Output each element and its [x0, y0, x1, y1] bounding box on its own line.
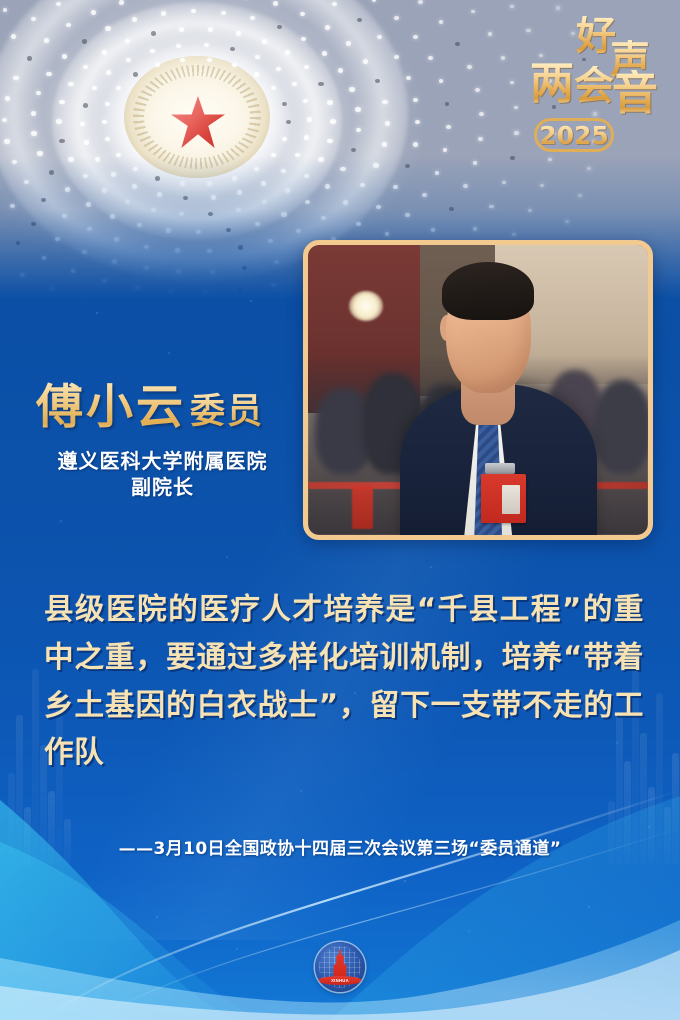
ceiling-light [236, 31, 241, 36]
ceiling-light [221, 11, 226, 16]
ceiling-light [91, 10, 96, 15]
ceiling-light [435, 171, 440, 175]
ceiling-light [382, 100, 387, 105]
ceiling-light [71, 269, 76, 273]
ceiling-light [44, 38, 49, 43]
ceiling-light [106, 70, 111, 75]
ceiling-light [11, 34, 16, 38]
ceiling-light [382, 142, 387, 147]
ceiling-light [304, 174, 309, 179]
ceiling-light [55, 237, 60, 241]
ceiling-light [87, 227, 92, 232]
ceiling-light [5, 96, 10, 101]
quote-text: 县级医院的医疗人才培养是“千县工程”的重中之重，要通过多样化培训机制，培养“带着… [44, 586, 644, 777]
ceiling-light [86, 202, 91, 207]
ceiling-light [578, 194, 582, 197]
ceiling-light [176, 44, 181, 49]
ceiling-light [238, 245, 243, 250]
ceiling-light [445, 102, 450, 106]
ceiling-light [4, 139, 9, 144]
sparkle-dot [168, 352, 170, 354]
ceiling-light [176, 269, 181, 273]
ceiling-light [478, 137, 483, 141]
ceiling-light [307, 117, 312, 122]
ceiling-light [116, 153, 121, 157]
ceiling-light [377, 35, 382, 39]
ceiling-light [510, 5, 514, 9]
poster-root: 好 声 两 会 音 2025 [0, 0, 680, 1020]
ceiling-light [41, 198, 46, 203]
ceiling-light [191, 9, 196, 14]
ceiling-light [12, 160, 17, 165]
ceiling-light [301, 37, 306, 42]
ceiling-light [31, 17, 36, 21]
ceiling-light [82, 298, 87, 300]
ceiling-light [135, 286, 140, 290]
ceiling-light [179, 27, 184, 32]
ceiling-light [415, 120, 420, 124]
ceiling-light [83, 103, 88, 108]
ceiling-light [66, 23, 71, 28]
ceiling-light [126, 58, 131, 63]
ceiling-light [394, 55, 399, 59]
ceiling-light [355, 107, 360, 112]
ceiling-light [540, 184, 544, 188]
photo-bg-lamp [349, 291, 383, 321]
ceiling-light [151, 208, 156, 213]
ceiling-light [372, 0, 377, 2]
ceiling-light [321, 216, 326, 221]
ceiling-light [50, 287, 55, 291]
ceiling-light [356, 222, 361, 226]
ceiling-light [16, 241, 21, 245]
ceiling-light [254, 72, 259, 76]
ceiling-light [230, 47, 235, 52]
ceiling-light [343, 200, 348, 205]
ceiling-light [271, 153, 276, 157]
ceiling-light [274, 260, 279, 264]
ceiling-light [144, 266, 149, 270]
ceiling-light [83, 65, 88, 70]
ceiling-light [373, 163, 378, 168]
ceiling-light [59, 100, 64, 105]
ceiling-light [449, 207, 454, 211]
ceiling-light [155, 176, 160, 180]
ceiling-light [36, 91, 41, 96]
ceiling-light [68, 157, 73, 162]
ceiling-light [151, 31, 156, 36]
ceiling-light [144, 245, 149, 250]
ceiling-light [112, 259, 117, 263]
ceiling-light [180, 181, 185, 185]
ceiling-light [132, 17, 137, 22]
photo-bg-lanyard [352, 486, 372, 530]
ceiling-light [285, 188, 290, 193]
affiliation-line-1: 遵义医科大学附属医院 [30, 448, 295, 474]
ceiling-light [210, 270, 215, 274]
ceiling-light [46, 72, 51, 77]
ceiling-light [376, 205, 381, 209]
ceiling-light [351, 148, 356, 153]
ceiling-light [82, 39, 87, 44]
ceiling-light [327, 100, 332, 105]
ceiling-light [105, 137, 110, 141]
ceiling-light [27, 56, 32, 61]
program-logo: 好 声 两 会 音 2025 [526, 14, 658, 164]
ceiling-light [349, 87, 354, 92]
ceiling-light [232, 63, 237, 67]
ceiling-light [24, 180, 29, 185]
ceiling-light [488, 32, 492, 36]
ceiling-light [439, 20, 444, 24]
ceiling-light [226, 228, 231, 233]
crowd-figure [594, 380, 648, 473]
ceiling-light [95, 157, 100, 162]
ceiling-light [203, 291, 208, 295]
ceiling-light [211, 195, 216, 200]
ceiling-light [102, 50, 107, 55]
ceiling-light [322, 51, 327, 56]
ceiling-light [125, 200, 130, 205]
ceiling-light [2, 118, 7, 123]
ceiling-light [489, 205, 493, 209]
ceiling-light [510, 81, 514, 85]
ceiling-light [356, 128, 361, 133]
ceiling-light [405, 213, 410, 217]
ceiling-light [133, 72, 138, 76]
ceiling-light [431, 228, 436, 232]
ceiling-light [305, 200, 310, 205]
ceiling-light [62, 54, 67, 59]
ceiling-light [443, 148, 448, 152]
ceiling-light [119, 0, 124, 5]
ceiling-light [271, 283, 276, 287]
logo-char-yin: 音 [612, 70, 658, 116]
ceiling-light [296, 229, 301, 234]
ceiling-light [49, 170, 54, 175]
ceiling-light [304, 65, 309, 70]
ceiling-light [318, 157, 323, 162]
ceiling-light [169, 290, 174, 294]
speaker-affiliation: 遵义医科大学附属医院 副院长 [30, 448, 295, 501]
ceiling-light [422, 193, 427, 197]
ceiling-light [208, 212, 213, 217]
badge-clip [485, 463, 516, 475]
ceiling-light [255, 222, 260, 227]
ceiling-light [501, 56, 505, 60]
ceiling-light [282, 102, 287, 106]
ceiling-light [277, 25, 282, 30]
ceiling-light [105, 26, 110, 31]
ceiling-light [471, 10, 475, 14]
ceiling-light [455, 42, 460, 46]
ceiling-light [175, 248, 180, 253]
ceiling-light [405, 164, 410, 168]
ceiling-light [271, 86, 276, 90]
ceiling-light [102, 279, 107, 283]
ceiling-light [116, 86, 121, 90]
ceiling-light [512, 233, 516, 237]
logo-char-liang: 两 [530, 62, 574, 106]
ceiling-light [406, 76, 411, 80]
ceiling-light [363, 59, 368, 64]
ceiling-light [385, 232, 390, 236]
ceiling-light [295, 153, 300, 158]
ceiling-light [268, 239, 273, 244]
ceiling-light [3, 8, 8, 12]
ceiling-light [157, 192, 162, 197]
ceiling-light [84, 140, 89, 145]
ceiling-light [80, 122, 85, 127]
ceiling-light [446, 125, 451, 129]
ceiling-light [102, 188, 107, 193]
ceiling-light [303, 99, 308, 104]
ceiling-light [286, 120, 291, 124]
ceiling-light [179, 212, 184, 217]
ceiling-light [83, 174, 88, 179]
ceiling-light [180, 58, 185, 62]
ceiling-light [10, 204, 15, 208]
ceiling-light [37, 151, 42, 156]
ceiling-light [56, 2, 61, 6]
ceiling-light [479, 112, 484, 116]
ceiling-light [375, 79, 380, 84]
ceiling-light [62, 214, 67, 219]
ceiling-light [556, 6, 560, 9]
ceiling-light [262, 200, 267, 205]
ceiling-light [110, 214, 115, 219]
ceiling-light [338, 68, 343, 73]
ceiling-light [31, 111, 36, 116]
ceiling-light [475, 88, 480, 92]
delegate-id-badge [481, 474, 525, 523]
ceiling-light [281, 212, 286, 217]
ceiling-light [92, 86, 97, 91]
ceiling-light [155, 63, 160, 67]
logo-year-text: 2025 [539, 121, 609, 150]
xinhua-news-agency-logo: XINHUA [315, 942, 365, 992]
ceiling-light [304, 135, 309, 140]
ceiling-light [207, 58, 212, 62]
ceiling-light [137, 223, 142, 228]
ceiling-light [385, 121, 390, 126]
ceiling-light [300, 12, 305, 17]
sparkle-dot [60, 520, 62, 522]
logo-ribbon: XINHUA [318, 976, 362, 985]
ceiling-light [150, 49, 155, 54]
ceiling-light [282, 137, 287, 141]
ceiling-light [325, 25, 330, 30]
ceiling-light [42, 256, 47, 260]
ceiling-light [207, 181, 212, 185]
sparkle-dot [96, 312, 98, 314]
ceiling-light [346, 41, 351, 46]
ceiling-light [413, 142, 418, 146]
ceiling-light [31, 222, 36, 226]
ceiling-light [111, 172, 116, 177]
ceiling-light [183, 196, 188, 201]
ceiling-light [587, 167, 591, 170]
speaker-name: 傅小云 [36, 368, 186, 437]
ceiling-light [473, 161, 478, 165]
speaker-name-row: 傅小云 委员 [36, 368, 296, 437]
ceiling-light [254, 167, 259, 171]
sparkle-dot [226, 556, 228, 558]
ceiling-light [467, 65, 472, 69]
ceiling-light [292, 82, 297, 87]
speaker-role-suffix: 委员 [190, 383, 264, 434]
ceiling-light [318, 82, 323, 87]
ceiling-light [68, 82, 73, 87]
ceiling-light [207, 249, 212, 254]
ceiling-light [237, 288, 242, 292]
ceiling-light [59, 139, 64, 144]
ceiling-light [125, 39, 130, 44]
ceiling-light [428, 56, 433, 60]
sparkle-dot [250, 300, 252, 302]
ceiling-light [502, 181, 506, 185]
ceiling-light [394, 16, 399, 20]
ceiling-light [281, 169, 286, 174]
ceiling-light [133, 167, 138, 171]
ceiling-light [262, 39, 267, 44]
ceiling-light [360, 183, 365, 188]
logo-year-badge: 2025 [534, 118, 614, 152]
portrait-frame [303, 240, 653, 540]
ceiling-light [237, 190, 242, 195]
logo-char-hui: 会 [574, 66, 614, 106]
logo-ribbon-text: XINHUA [318, 976, 362, 985]
ceiling-light [340, 167, 345, 172]
ceiling-light [56, 119, 61, 124]
ceiling-light [261, 181, 266, 186]
ceiling-light [528, 209, 532, 213]
ceiling-light [565, 220, 569, 223]
ceiling-light [276, 67, 281, 72]
ceiling-light [236, 208, 241, 213]
ceiling-light [232, 176, 237, 180]
ceiling-light [196, 230, 201, 235]
ceiling-light [330, 119, 335, 124]
ceiling-light [242, 266, 247, 270]
ceiling-light [285, 50, 290, 55]
ceiling-light [161, 11, 166, 16]
ceiling-light [418, 0, 423, 4]
ceiling-light [325, 184, 330, 189]
ceiling-light [514, 131, 518, 135]
ceiling-light [166, 228, 171, 233]
ceiling-light [114, 237, 119, 242]
ceiling-light [332, 2, 337, 6]
ceiling-light [413, 35, 418, 39]
ceiling-light [439, 79, 444, 83]
ceiling-light [514, 106, 518, 110]
ceiling-light [473, 227, 477, 231]
ceiling-light [82, 250, 87, 254]
ceiling-light [463, 184, 468, 188]
speaker-hair [442, 262, 534, 320]
ceiling-light [273, 1, 278, 6]
ceiling-light [132, 184, 137, 189]
ceiling-light [20, 273, 25, 277]
ceiling-light [208, 27, 213, 32]
ceiling-light [413, 98, 418, 102]
ceiling-light [204, 43, 209, 48]
ceiling-light [255, 55, 260, 60]
ceiling-light [327, 139, 332, 144]
ceiling-light [510, 156, 514, 160]
quote-attribution: ——3月10日全国政协十四届三次会议第三场“委员通道” [0, 834, 680, 859]
ceiling-light [31, 131, 36, 136]
affiliation-line-2: 副院长 [30, 474, 295, 500]
ceiling-light [102, 120, 107, 124]
ceiling-light [357, 18, 362, 22]
ceiling-light [105, 102, 110, 106]
ceiling-light [393, 185, 398, 189]
speaker-photo [308, 245, 648, 535]
ceiling-light [250, 16, 255, 21]
ceiling-light [65, 187, 70, 192]
ceiling-light [13, 76, 18, 81]
